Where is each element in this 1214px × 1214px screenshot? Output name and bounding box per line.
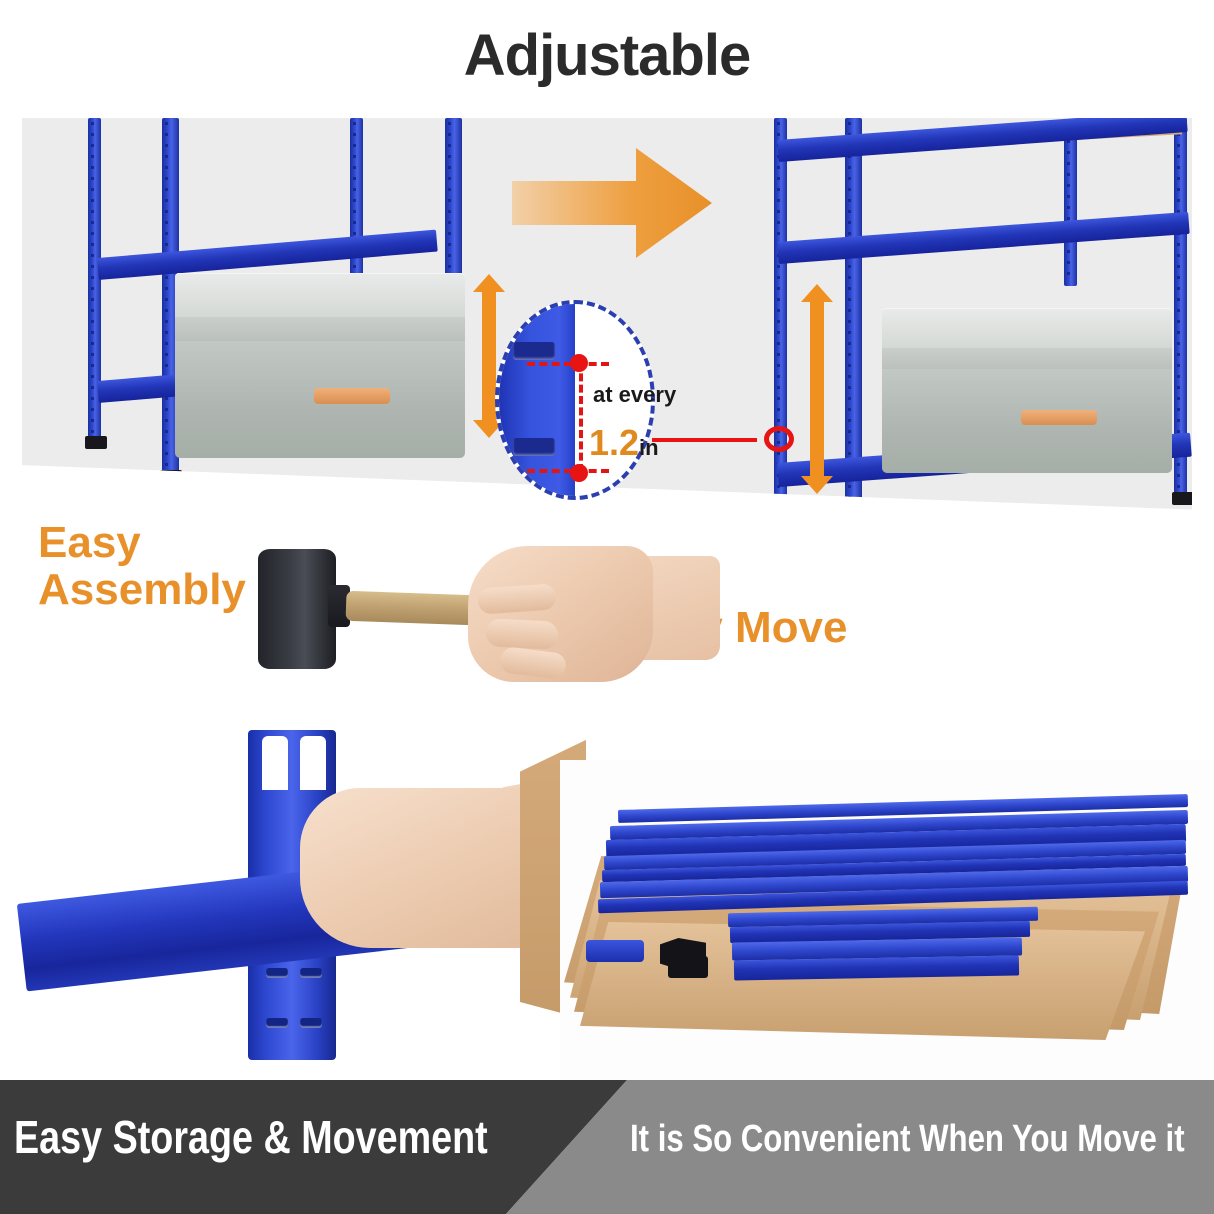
- callout-text-line1: at every: [593, 382, 676, 408]
- page-title: Adjustable: [0, 22, 1214, 89]
- shelf-foot-far-right-after: [1172, 492, 1192, 505]
- post-notch-left: [262, 736, 288, 790]
- shelf-foot-front-left: [160, 470, 182, 483]
- callout-text-value: 1.2in: [589, 422, 659, 464]
- parts-photo: [560, 760, 1214, 1080]
- shelf-unit-after: [752, 118, 1192, 558]
- storage-box-after: [882, 308, 1172, 473]
- post-slot-upper: [513, 342, 556, 359]
- storage-box-handle: [314, 388, 389, 405]
- shelf-post-front-right: [445, 118, 462, 280]
- shelf-post-rear-right-after: [1064, 136, 1077, 286]
- finger-index: [477, 583, 557, 614]
- storage-box-handle-after: [1021, 410, 1096, 425]
- post-slot-lower: [513, 438, 556, 455]
- finger-middle: [485, 618, 558, 650]
- callout-value: 1.2: [589, 422, 639, 463]
- height-arrow-before-icon: [482, 290, 496, 422]
- adjustment-callout: at every 1.2in: [495, 300, 655, 500]
- storage-box-lid-band: [175, 317, 465, 343]
- blue-bracket-part: [586, 940, 644, 962]
- post-slot-d: [300, 1018, 322, 1028]
- measure-line-lower: [527, 469, 609, 473]
- storage-box-lid-band-after: [882, 348, 1172, 371]
- shelf-foot-left: [85, 436, 107, 449]
- post-slot-a: [266, 968, 288, 978]
- storage-box-lid: [175, 273, 465, 321]
- easy-assembly-line2: Assembly: [38, 567, 246, 614]
- magnified-post-surface: [499, 304, 575, 496]
- easy-assembly-line1: Easy: [38, 520, 246, 567]
- measure-dot-bottom: [570, 464, 588, 482]
- height-arrow-after-icon: [810, 300, 824, 478]
- shelf-foot-rear-left-after: [770, 518, 792, 531]
- shelf-post-front-left-after: [845, 118, 862, 560]
- banner-left-text: Easy Storage & Movement: [14, 1110, 488, 1164]
- flow-arrow-icon: [512, 148, 712, 258]
- measure-dot-top: [570, 354, 588, 372]
- shelf-beam-top-after: [777, 118, 1188, 162]
- storage-box-before: [175, 273, 465, 458]
- red-circle-marker-icon: [764, 426, 794, 452]
- shelf-beam-middle-after: [777, 212, 1190, 264]
- measure-line-vertical: [579, 362, 583, 472]
- callout-label: at every: [593, 382, 676, 407]
- feature-label-easy-assembly: Easy Assembly: [38, 520, 246, 613]
- rubber-mallet-head-icon: [258, 549, 336, 669]
- banner-right-text: It is So Convenient When You Move it: [630, 1118, 1185, 1161]
- callout-leader-line: [652, 438, 757, 442]
- storage-box-lid-after: [882, 308, 1172, 351]
- post-slot-c: [266, 1018, 288, 1028]
- black-foot-caps-2: [668, 956, 708, 978]
- shelf-unit-before: [50, 118, 480, 518]
- assembly-photo: [0, 700, 586, 1080]
- post-slot-b: [300, 968, 322, 978]
- measure-line-upper: [527, 362, 609, 366]
- post-notch-right: [300, 736, 326, 790]
